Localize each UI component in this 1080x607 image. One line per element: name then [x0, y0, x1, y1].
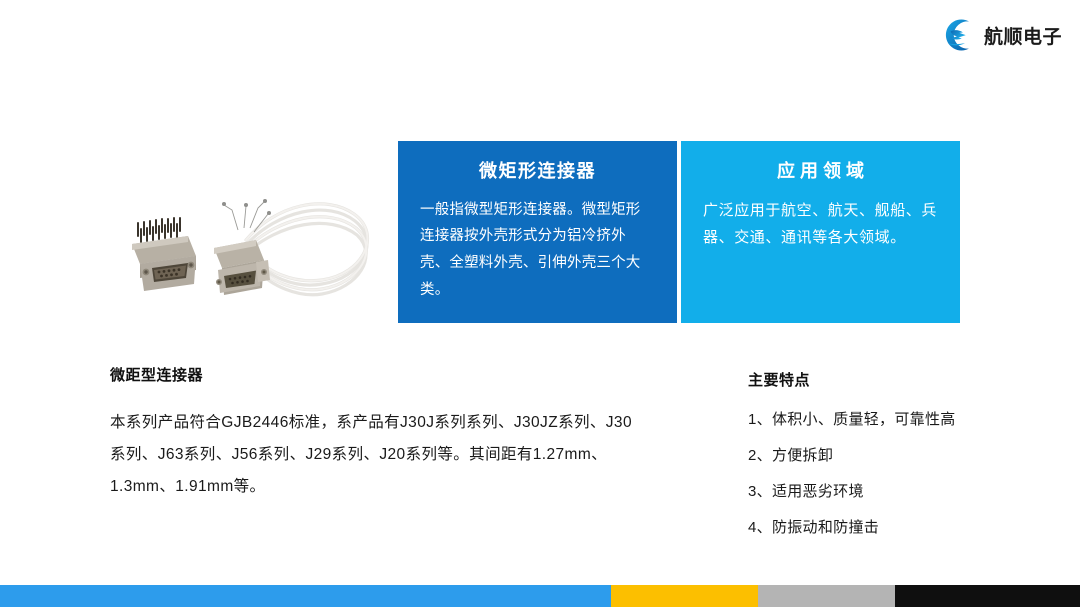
- list-item: 2、方便拆卸: [748, 448, 1048, 463]
- list-item: 4、防振动和防撞击: [748, 520, 1048, 535]
- bottom-bar-segment-yellow: [611, 585, 758, 607]
- bottom-bar-segment-black: [895, 585, 1080, 607]
- brand-logo: 航顺电子: [939, 16, 1062, 54]
- bottom-bar-segment-gray: [758, 585, 895, 607]
- panel-application: 应用领域 广泛应用于航空、航天、舰船、兵器、交通、通讯等各大领域。: [681, 141, 960, 323]
- swoosh-bird-circle-logo-icon: [939, 16, 977, 54]
- panel-application-title: 应用领域: [703, 161, 938, 183]
- connector-section: 微距型连接器 本系列产品符合GJB2446标准，系产品有J30J系列系列、J30…: [110, 364, 640, 503]
- product-photo: [96, 152, 392, 327]
- bottom-color-bar: [0, 585, 1080, 607]
- features-list: 1、体积小、质量轻，可靠性高 2、方便拆卸 3、适用恶劣环境 4、防振动和防撞击: [748, 412, 1048, 535]
- panel-rect-connector-title: 微矩形连接器: [420, 161, 655, 183]
- connector-section-heading: 微距型连接器: [110, 364, 640, 385]
- connector-section-paragraph: 本系列产品符合GJB2446标准，系产品有J30J系列系列、J30JZ系列、J3…: [110, 407, 640, 503]
- list-item: 1、体积小、质量轻，可靠性高: [748, 412, 1048, 427]
- features-section: 主要特点 1、体积小、质量轻，可靠性高 2、方便拆卸 3、适用恶劣环境 4、防振…: [748, 369, 1048, 556]
- panel-rect-connector: 微矩形连接器 一般指微型矩形连接器。微型矩形连接器按外壳形式分为铝冷挤外壳、全塑…: [398, 141, 677, 323]
- panel-application-body: 广泛应用于航空、航天、舰船、兵器、交通、通讯等各大领域。: [703, 197, 938, 253]
- features-section-heading: 主要特点: [748, 369, 1048, 390]
- panel-rect-connector-body: 一般指微型矩形连接器。微型矩形连接器按外壳形式分为铝冷挤外壳、全塑料外壳、引伸外…: [420, 197, 655, 304]
- brand-name: 航顺电子: [984, 22, 1062, 49]
- bottom-bar-segment-blue: [0, 585, 611, 607]
- list-item: 3、适用恶劣环境: [748, 484, 1048, 499]
